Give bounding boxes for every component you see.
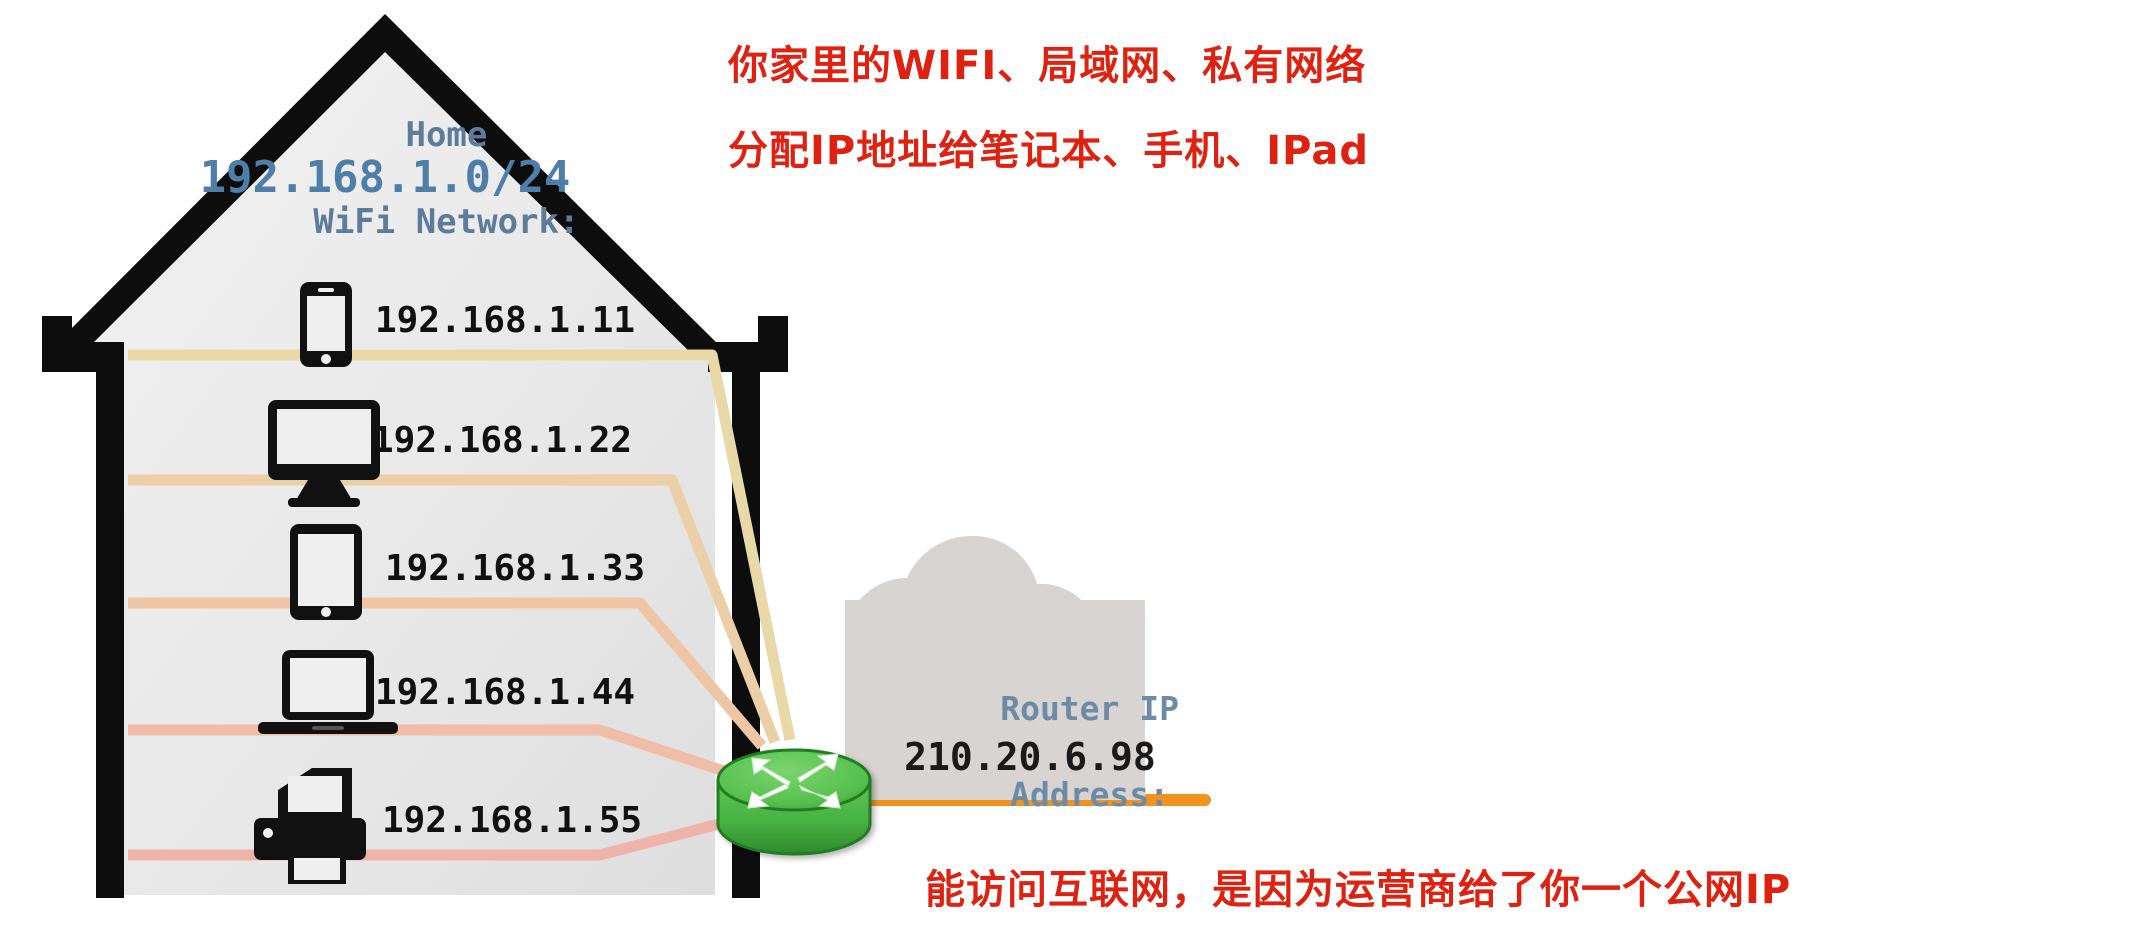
- device-ip-laptop: 192.168.1.44: [375, 672, 635, 713]
- router-ip-line1: Router IP: [1000, 689, 1179, 728]
- device-ip-smartphone: 192.168.1.11: [375, 300, 635, 341]
- tablet-icon: [290, 524, 362, 620]
- annotation-private-network: 你家里的WIFI、局域网、私有网络: [728, 33, 1366, 91]
- router-icon: [718, 750, 870, 854]
- router-ip-line2: Address:: [1010, 775, 1169, 814]
- public-ip-value: 210.20.6.98: [870, 735, 1190, 779]
- annotation-dhcp-assignment: 分配IP地址给笔记本、手机、IPad: [728, 118, 1369, 176]
- annotation-public-ip: 能访问互联网，是因为运营商给了你一个公网IP: [925, 857, 1791, 915]
- home-label: Home: [405, 115, 487, 155]
- home-network-cidr: 192.168.1.0/24: [150, 152, 620, 203]
- diagram-canvas: Home WiFi Network: 192.168.1.0/24 192.16…: [0, 0, 2138, 952]
- device-ip-printer: 192.168.1.55: [382, 800, 642, 841]
- smartphone-icon: [300, 282, 352, 367]
- wifi-network-label: WiFi Network:: [313, 202, 579, 242]
- device-ip-desktop: 192.168.1.22: [372, 420, 632, 461]
- device-ip-tablet: 192.168.1.33: [385, 548, 645, 589]
